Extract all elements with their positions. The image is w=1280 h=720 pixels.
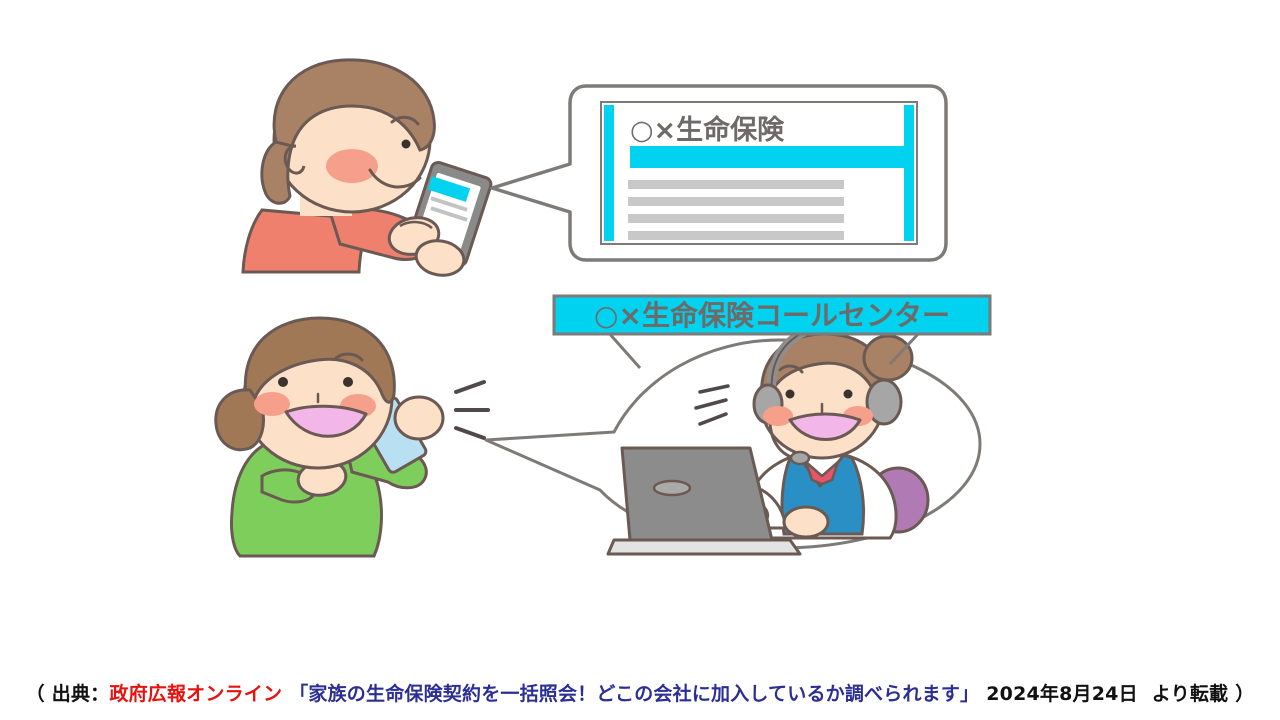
screen-content-line [628, 231, 844, 240]
caption-source-name: 政府広報オンライン [109, 683, 282, 705]
screen-content-line [628, 180, 844, 189]
caption-date: 2024年8月24日 [986, 683, 1138, 705]
screen-left-accent-bar [604, 105, 614, 241]
screen-content-line [628, 197, 844, 206]
man-with-smartphone [243, 60, 493, 279]
caption-close-paren: ） [1235, 683, 1254, 705]
woman-on-phone [216, 318, 488, 556]
screen-highlight-bar [630, 146, 910, 168]
tablet-speech-bubble: ○×生命保険 [492, 86, 946, 260]
illustration-canvas: ○×生命保険 [0, 0, 1280, 660]
motion-lines-caller [456, 382, 488, 438]
banner-label: ○×生命保険コールセンター [594, 299, 950, 332]
caption-suffix: より転載 [1152, 683, 1228, 705]
screen-right-accent-bar [904, 105, 914, 241]
caption-open-paren: （ [26, 683, 45, 705]
source-citation: （出典：政府広報オンライン「家族の生命保険契約を一括照会！どこの会社に加入してい… [0, 679, 1280, 706]
screen-heading: ○×生命保険 [630, 114, 785, 146]
caption-article-title: 「家族の生命保険契約を一括照会！どこの会社に加入しているか調べられます」 [289, 683, 979, 705]
screen-content-line [628, 214, 844, 223]
caption-prefix: 出典： [52, 683, 110, 705]
